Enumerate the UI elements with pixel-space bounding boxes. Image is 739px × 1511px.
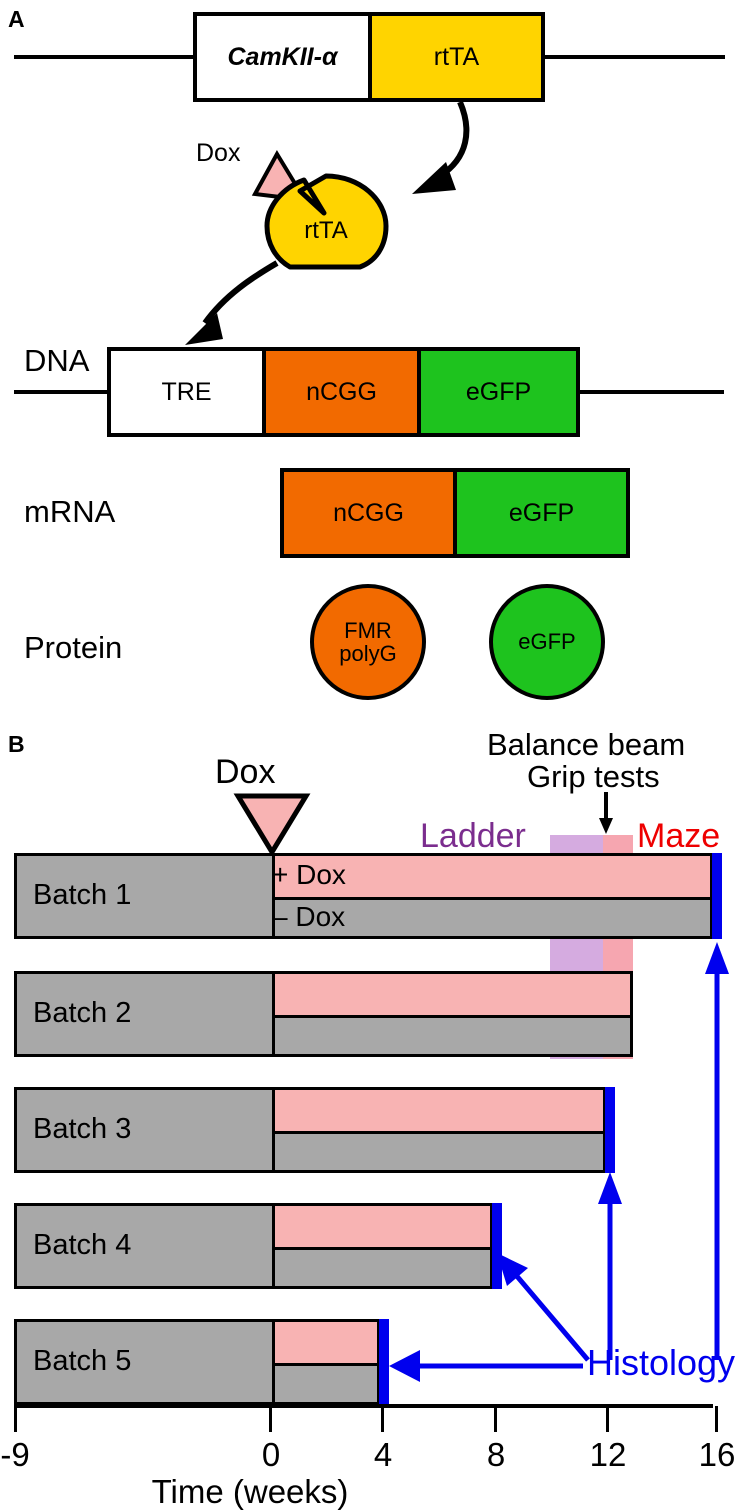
svg-text:rtTA: rtTA <box>304 217 348 244</box>
x-tick-0 <box>269 1406 272 1432</box>
x-tick-8 <box>494 1406 497 1432</box>
camkii-promoter-label: CamKII-α <box>228 43 338 72</box>
rtta-gene-segment: rtTA <box>372 16 541 98</box>
batch-5-plus-dox-block <box>272 1322 377 1363</box>
batch-4-name: Batch 4 <box>33 1231 131 1260</box>
x-axis-title: Time (weeks) <box>0 1475 500 1508</box>
construct-backbone-line-left <box>14 55 196 59</box>
dox-label-panel-a: Dox <box>196 141 240 166</box>
batch-1-minus-dox-label: – Dox <box>272 903 345 931</box>
batch-2-name: Batch 2 <box>33 999 131 1028</box>
grip-tests-label: Grip tests <box>527 761 660 794</box>
camkii-promoter-segment: CamKII-α <box>197 16 372 98</box>
rtta-binding-arrow <box>155 255 305 350</box>
ladder-label: Ladder <box>420 819 526 853</box>
x-tick-label--9: -9 <box>0 1438 40 1471</box>
histology-callout-arrows <box>380 940 739 1370</box>
mrna-segment-egfp: eGFP <box>457 472 626 554</box>
dox-marker-label: Dox <box>215 755 275 789</box>
balance-beam-label: Balance beam <box>487 729 685 762</box>
protein-circle-egfp: eGFP <box>489 584 605 700</box>
protein-egfp-line1: eGFP <box>518 630 575 653</box>
dna-segment-egfp-label: eGFP <box>466 378 531 407</box>
maze-label: Maze <box>637 819 720 853</box>
x-tick-16 <box>715 1406 718 1432</box>
dna-backbone-line-left <box>14 390 110 394</box>
batch-1-plus-dox-label: + Dox <box>272 861 346 889</box>
x-tick-label-16: 16 <box>692 1438 739 1471</box>
x-tick-12 <box>606 1406 609 1432</box>
mrna-row-label: mRNA <box>24 496 115 527</box>
dna-segment-egfp: eGFP <box>421 351 576 433</box>
x-tick-label-4: 4 <box>358 1438 408 1471</box>
dna-backbone-line-right <box>578 390 724 394</box>
batch-3-name: Batch 3 <box>33 1115 131 1144</box>
protein-row-label: Protein <box>24 632 122 663</box>
x-tick-label-0: 0 <box>246 1438 296 1471</box>
dna-row-label: DNA <box>24 345 89 376</box>
protein-fmr-line2: polyG <box>339 642 396 665</box>
mrna-segment-egfp-label: eGFP <box>509 499 574 528</box>
protein-circle-fmr-polyg: FMR polyG <box>310 584 426 700</box>
dna-construct-box: TRE nCGG eGFP <box>107 347 580 437</box>
x-tick--9 <box>14 1406 17 1432</box>
x-tick-4 <box>381 1406 384 1432</box>
construct-backbone-line-right <box>543 55 725 59</box>
dna-segment-ncgg-label: nCGG <box>306 378 377 407</box>
mrna-segment-ncgg: nCGG <box>284 472 457 554</box>
x-tick-label-12: 12 <box>583 1438 633 1471</box>
x-tick-label-8: 8 <box>471 1438 521 1471</box>
driver-construct-box: CamKII-α rtTA <box>193 12 545 102</box>
dna-segment-ncgg: nCGG <box>266 351 421 433</box>
histology-label: Histology <box>587 1345 735 1381</box>
mrna-segment-ncgg-label: nCGG <box>333 499 404 528</box>
panel-a-letter: A <box>8 8 25 31</box>
mrna-construct-box: nCGG eGFP <box>280 468 630 558</box>
protein-fmr-line1: FMR <box>344 619 392 642</box>
batch-1-histology-marker <box>712 853 722 939</box>
figure-root: A CamKII-α rtTA Dox rtTA DNA TRE <box>0 0 739 1511</box>
dox-marker-triangle-icon <box>234 793 310 855</box>
dna-segment-tre: TRE <box>111 351 266 433</box>
batch-5-minus-dox-block <box>272 1363 377 1402</box>
batch-5-name: Batch 5 <box>33 1347 131 1376</box>
rtta-gene-label: rtTA <box>434 43 479 72</box>
batch-1-name: Batch 1 <box>33 881 131 910</box>
dna-segment-tre-label: TRE <box>162 378 212 407</box>
panel-b-letter: B <box>8 733 25 756</box>
grip-tests-down-arrow-icon <box>596 792 616 834</box>
